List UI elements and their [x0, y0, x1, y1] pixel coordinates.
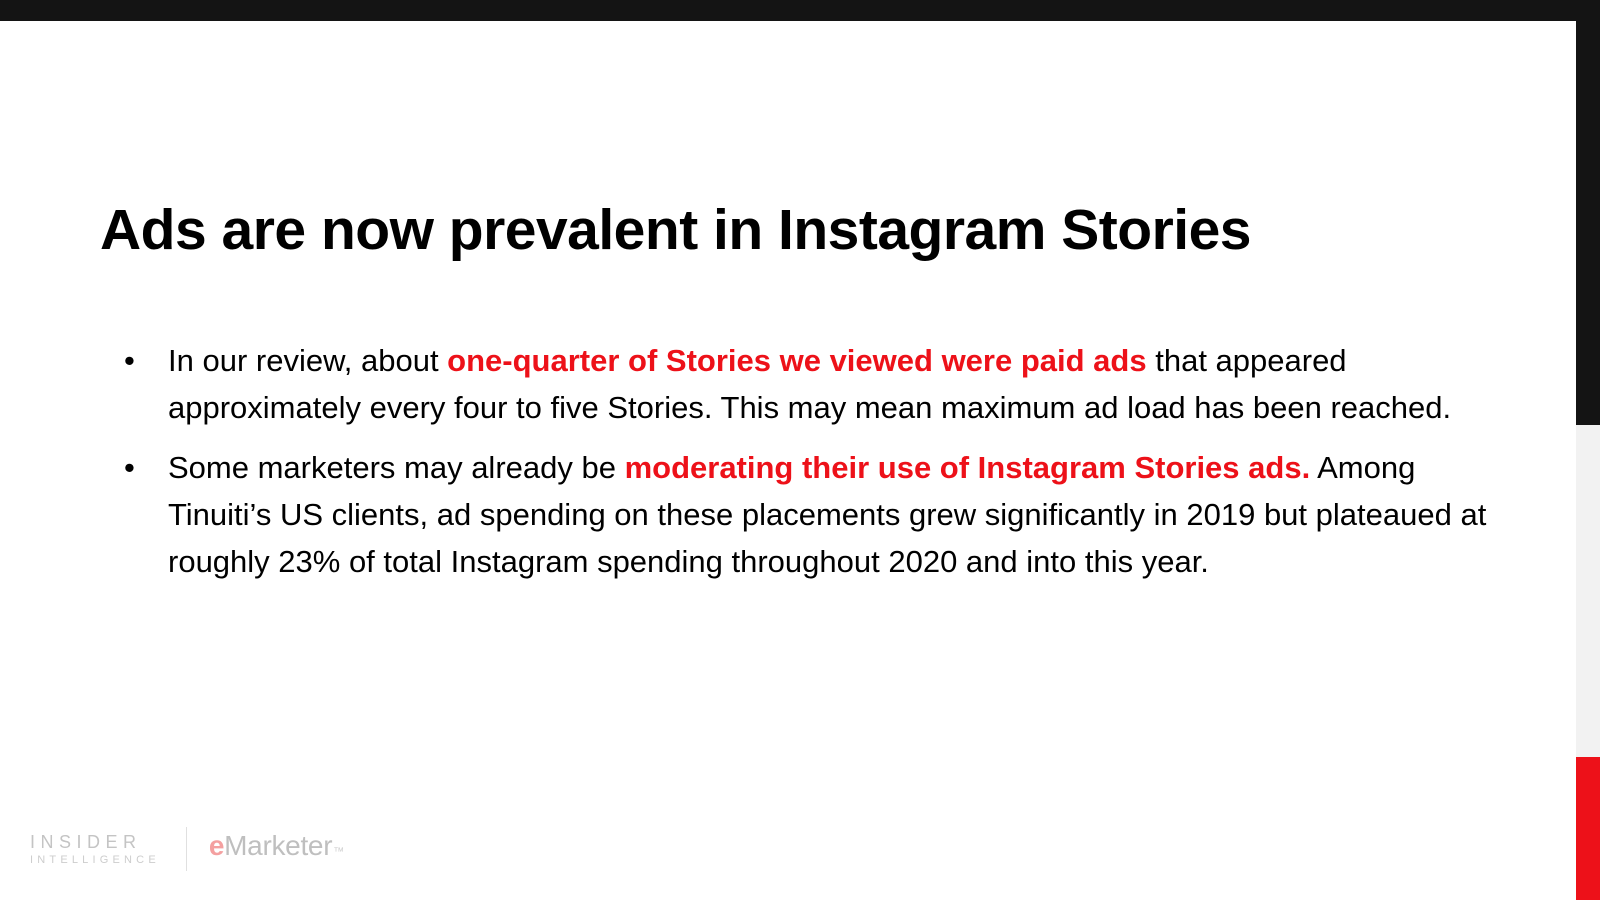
list-item: • Some marketers may already be moderati… [100, 444, 1500, 585]
right-edge-strip-red [1576, 757, 1600, 900]
insider-intelligence-logo-line2: INTELLIGENCE [30, 853, 160, 868]
right-edge-strip-gray [1576, 425, 1600, 757]
list-item: • In our review, about one-quarter of St… [100, 337, 1500, 431]
bullet-list: • In our review, about one-quarter of St… [100, 337, 1500, 598]
bullet-point-icon: • [124, 337, 144, 384]
insider-intelligence-logo: INSIDER INTELLIGENCE [30, 831, 160, 868]
top-accent-bar [0, 0, 1600, 21]
emarketer-logo-e: e [209, 831, 224, 861]
right-edge-strip-dark [1576, 21, 1600, 425]
slide-canvas: Ads are now prevalent in Instagram Stori… [0, 0, 1600, 900]
highlighted-text-segment: moderating their use of Instagram Storie… [625, 450, 1311, 485]
trademark-icon: ™ [333, 837, 344, 867]
insider-intelligence-logo-line1: INSIDER [30, 831, 160, 853]
highlighted-text-segment: one-quarter of Stories we viewed were pa… [447, 343, 1146, 378]
emarketer-logo: eMarketer™ [209, 831, 344, 867]
page-title: Ads are now prevalent in Instagram Stori… [100, 199, 1500, 262]
text-segment: In our review, about [168, 343, 447, 378]
slide-content: Ads are now prevalent in Instagram Stori… [0, 21, 1576, 900]
list-item-text: In our review, about one-quarter of Stor… [168, 337, 1500, 431]
text-segment: Some marketers may already be [168, 450, 625, 485]
list-item-text: Some marketers may already be moderating… [168, 444, 1500, 585]
logo-divider [186, 827, 187, 871]
emarketer-logo-wordmark: Marketer [224, 831, 332, 861]
footer-brand-lockup: INSIDER INTELLIGENCE eMarketer™ [30, 826, 344, 872]
bullet-point-icon: • [124, 444, 144, 491]
